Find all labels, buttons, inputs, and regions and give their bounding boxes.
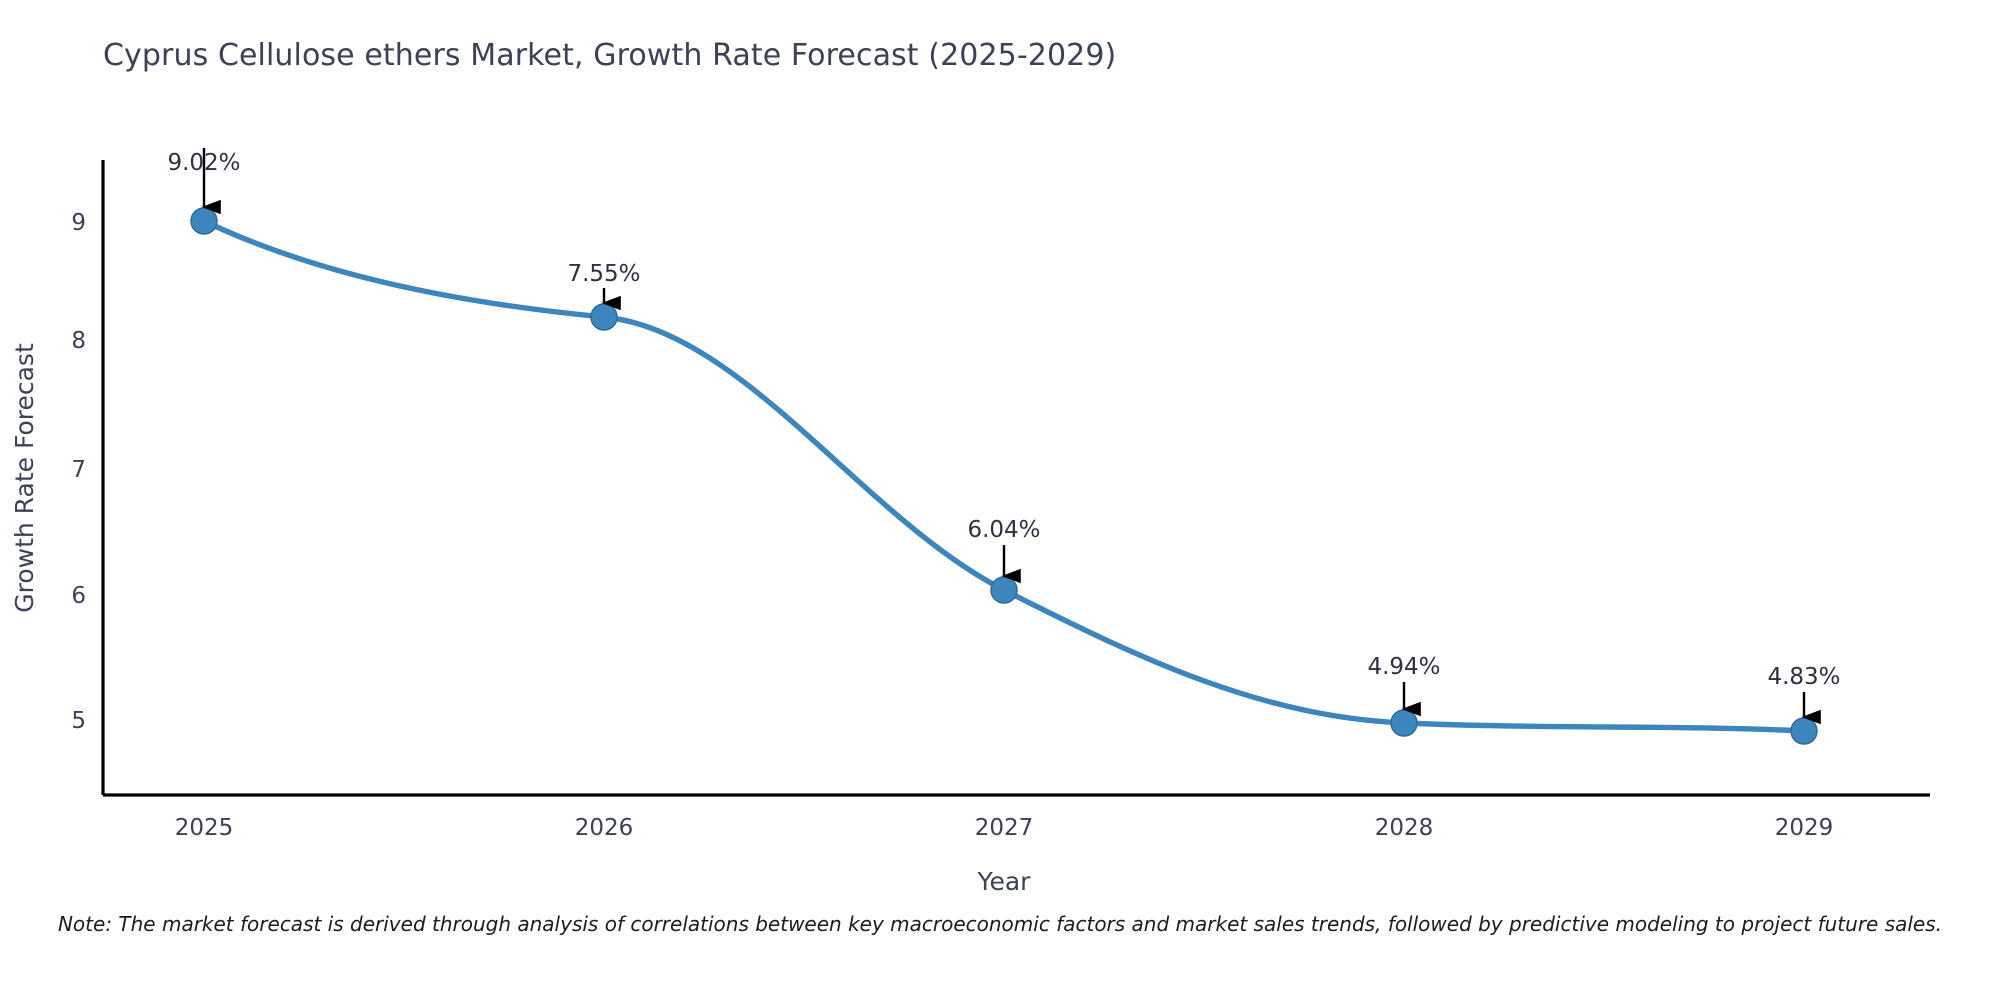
- data-point-marker[interactable]: [1791, 718, 1817, 744]
- line-chart: 9 8 7 6 5 2025 2026 2027 2028 2029 Year …: [0, 0, 2000, 1000]
- data-label-2029: 4.83%: [1767, 664, 1840, 690]
- data-label-2026: 7.55%: [567, 261, 640, 287]
- data-point-marker[interactable]: [591, 304, 617, 330]
- data-point-marker[interactable]: [1391, 710, 1417, 736]
- data-line: [204, 221, 1804, 731]
- y-tick-label-8: 8: [71, 328, 86, 354]
- x-tick-label-2027: 2027: [975, 815, 1034, 841]
- y-tick-label-7: 7: [71, 457, 86, 483]
- data-label-2028: 4.94%: [1367, 654, 1440, 680]
- chart-page: Cyprus Cellulose ethers Market, Growth R…: [0, 0, 2000, 1000]
- y-tick-label-5: 5: [71, 708, 86, 734]
- data-point-marker[interactable]: [191, 208, 217, 234]
- y-tick-label-9: 9: [71, 210, 86, 236]
- data-point-marker[interactable]: [991, 577, 1017, 603]
- x-axis-title: Year: [977, 867, 1032, 896]
- data-label-2025: 9.02%: [167, 150, 240, 176]
- y-axis-title: Growth Rate Forecast: [10, 343, 39, 613]
- x-tick-label-2025: 2025: [175, 815, 234, 841]
- x-tick-label-2026: 2026: [575, 815, 634, 841]
- x-tick-label-2029: 2029: [1775, 815, 1834, 841]
- y-tick-label-6: 6: [71, 583, 86, 609]
- x-tick-label-2028: 2028: [1375, 815, 1434, 841]
- footnote-text: Note: The market forecast is derived thr…: [0, 912, 2000, 936]
- data-label-2027: 6.04%: [967, 517, 1040, 543]
